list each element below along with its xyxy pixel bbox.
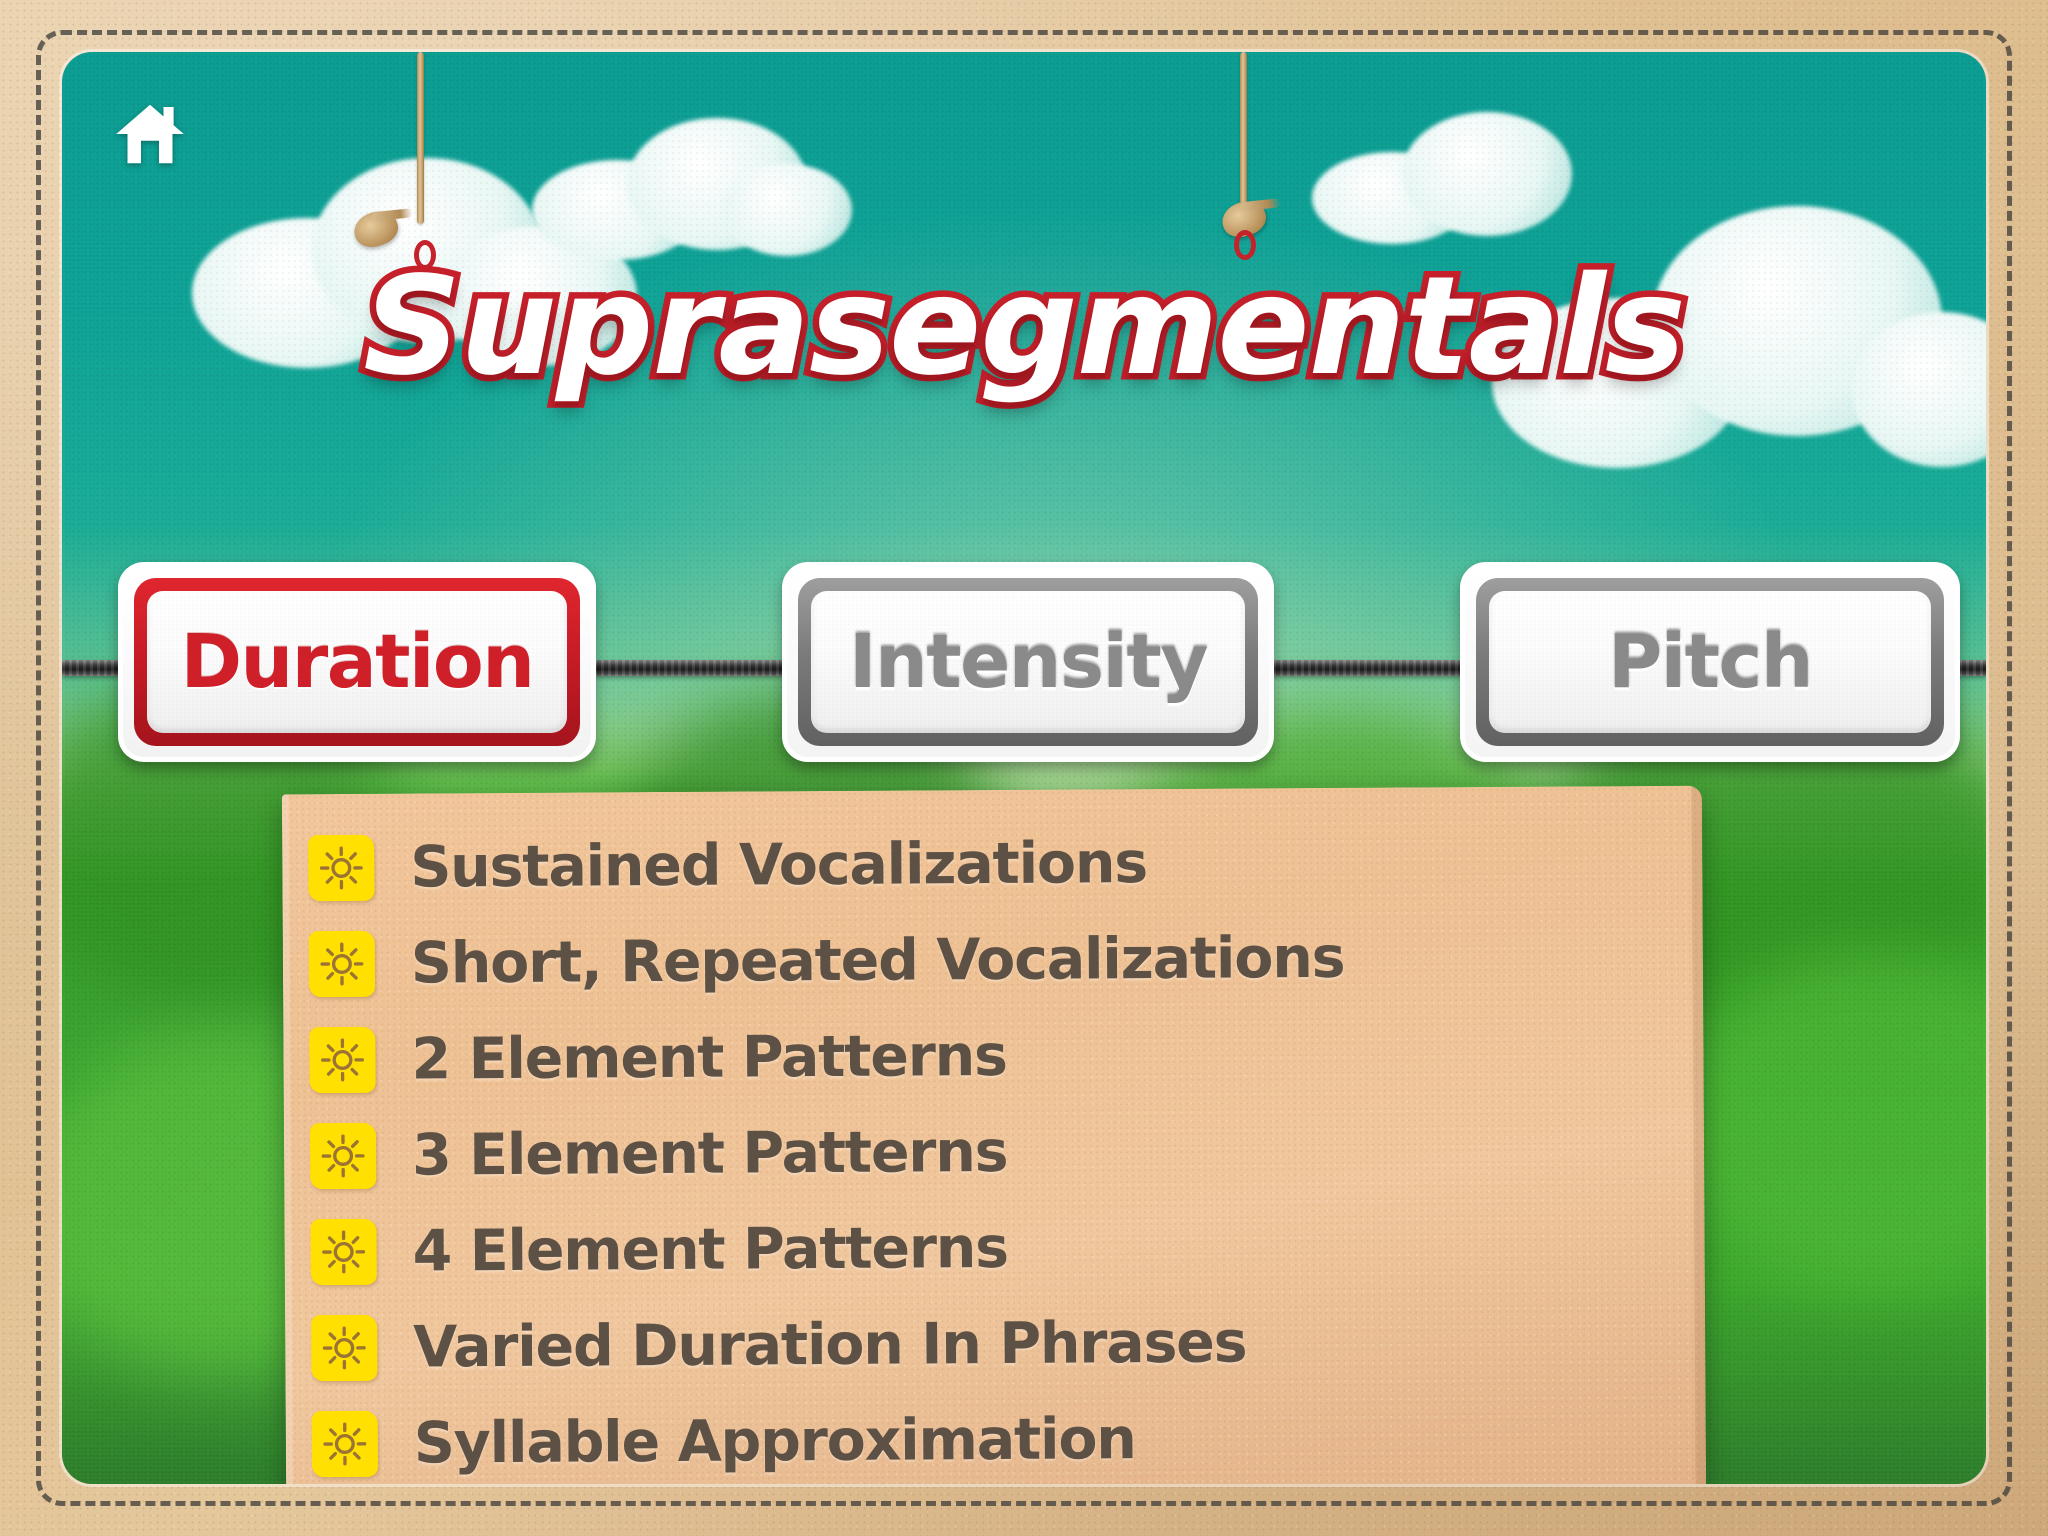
list-item[interactable]: Varied Duration In Phrases <box>311 1292 1706 1397</box>
sun-icon <box>310 1219 376 1285</box>
sun-icon <box>310 1123 376 1189</box>
tab-intensity[interactable]: Intensity <box>782 562 1274 762</box>
sun-icon <box>308 835 374 901</box>
list-item-label: Syllable Approximation <box>414 1406 1136 1476</box>
home-icon <box>114 98 186 170</box>
activity-list: Sustained Vocalizations <box>282 786 1706 1484</box>
rope-right <box>1240 52 1247 214</box>
list-item-label: 3 Element Patterns <box>412 1119 1008 1189</box>
page-title: Suprasegmentals <box>62 248 1986 406</box>
list-item[interactable]: Sustained Vocalizations <box>308 812 1703 917</box>
sun-icon <box>309 931 375 997</box>
tab-intensity-label: Intensity <box>849 619 1207 705</box>
tab-pitch[interactable]: Pitch <box>1460 562 1960 762</box>
sun-icon <box>309 1027 375 1093</box>
list-item[interactable]: 3 Element Patterns <box>310 1100 1705 1205</box>
list-item[interactable]: 2 Element Patterns <box>309 1004 1704 1109</box>
tab-duration-label: Duration <box>181 619 534 705</box>
list-item[interactable]: Syllable Approximation <box>312 1388 1707 1484</box>
app-screen: Suprasegmentals Duration Intensity <box>62 52 1986 1484</box>
app-frame: Suprasegmentals Duration Intensity <box>0 0 2048 1536</box>
home-button[interactable] <box>104 88 196 180</box>
rope-left <box>417 52 424 224</box>
sun-icon <box>312 1411 378 1477</box>
list-item-label: Short, Repeated Vocalizations <box>411 925 1345 997</box>
sun-icon <box>311 1315 377 1381</box>
list-item-label: 4 Element Patterns <box>412 1215 1008 1285</box>
list-item[interactable]: Short, Repeated Vocalizations <box>309 908 1704 1013</box>
tab-bar: Duration Intensity Pitch <box>62 532 1986 792</box>
list-item-label: Sustained Vocalizations <box>410 830 1147 900</box>
list-item[interactable]: 4 Element Patterns <box>310 1196 1705 1301</box>
tab-duration[interactable]: Duration <box>118 562 596 762</box>
activity-list-panel: Sustained Vocalizations <box>282 786 1706 1484</box>
list-item-label: 2 Element Patterns <box>411 1023 1007 1093</box>
tab-pitch-label: Pitch <box>1608 619 1812 705</box>
list-item-label: Varied Duration In Phrases <box>413 1309 1247 1380</box>
